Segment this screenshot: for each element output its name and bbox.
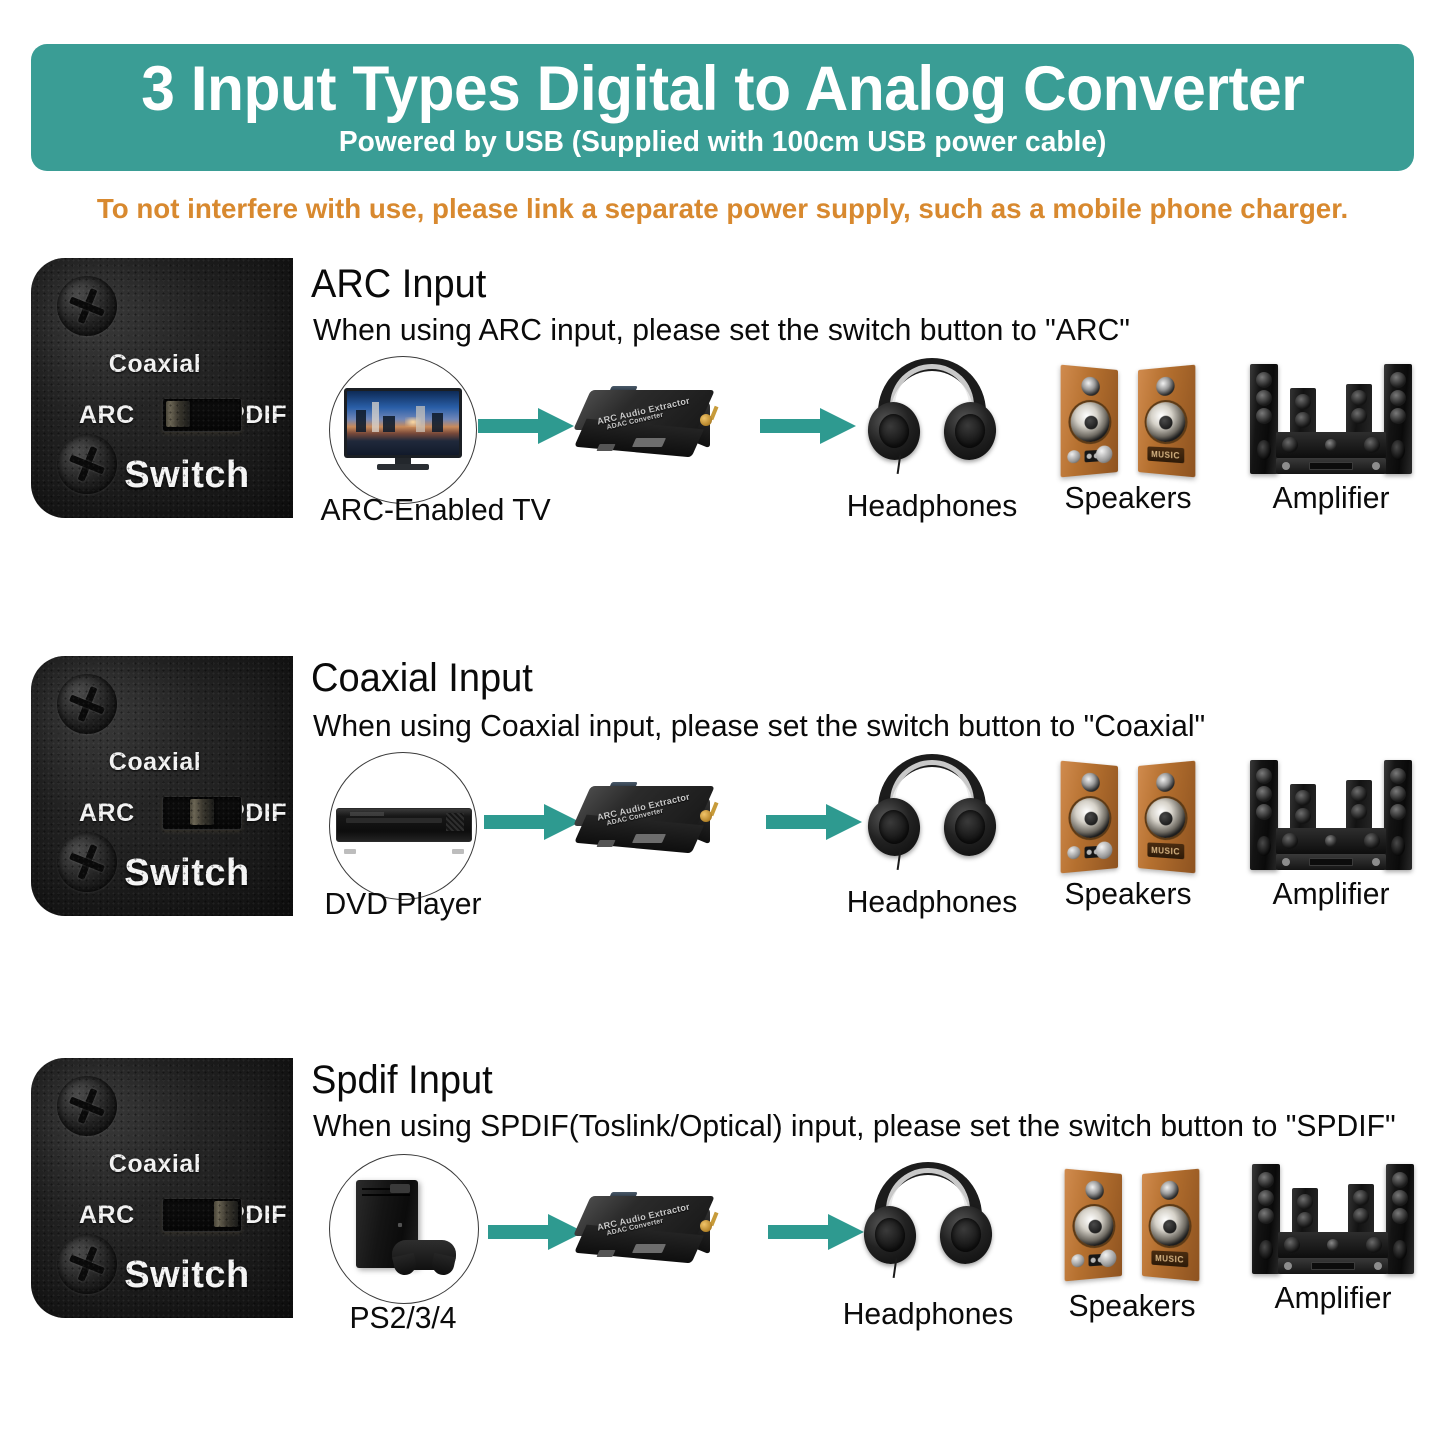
output-node-headphones: Headphones xyxy=(832,754,1032,920)
section-description: When using Coaxial input, please set the… xyxy=(313,708,1205,744)
output-label-amplifier: Amplifier xyxy=(1241,480,1421,516)
converter-node: ARC Audio Extractor ADAC Converter xyxy=(576,376,732,472)
amplifier-icon xyxy=(1246,760,1416,872)
header-banner: 3 Input Types Digital to Analog Converte… xyxy=(31,44,1414,171)
playstation-console-icon xyxy=(340,1180,460,1276)
headphones-icon xyxy=(866,1162,990,1272)
source-node-dvd: DVD Player xyxy=(318,752,488,922)
arrow-right-icon xyxy=(484,800,582,849)
speaker-badge: MUSIC xyxy=(1151,449,1180,460)
source-node-tv: ARC-Enabled TV xyxy=(318,356,488,528)
output-label-speakers: Speakers xyxy=(1045,876,1212,912)
section-spdif-input: Coaxial ARC SPDIF Switch Spdif Input Whe… xyxy=(0,1058,1445,1358)
source-node-console: PS2/3/4 xyxy=(318,1154,488,1336)
output-node-speakers: MUSIC Speakers xyxy=(1042,764,1214,912)
converter-device-icon: ARC Audio Extractor ADAC Converter xyxy=(576,772,726,868)
output-node-speakers: MUSIC Speakers xyxy=(1046,1172,1218,1324)
speaker-badge: MUSIC xyxy=(1151,845,1180,856)
screw-icon xyxy=(57,674,117,734)
dvd-player-icon xyxy=(336,802,472,856)
section-description: When using SPDIF(Toslink/Optical) input,… xyxy=(313,1108,1396,1144)
output-label-headphones: Headphones xyxy=(831,1296,1025,1332)
source-label: ARC-Enabled TV xyxy=(321,492,486,528)
signal-chain: ARC-Enabled TV ARC Audio Extractor ADAC … xyxy=(0,356,1445,548)
section-title: Coaxial Input xyxy=(311,656,533,701)
output-node-headphones: Headphones xyxy=(832,358,1032,524)
speakers-icon: MUSIC xyxy=(1058,764,1198,872)
converter-device-icon: ARC Audio Extractor ADAC Converter xyxy=(576,376,726,472)
section-arc-input: Coaxial ARC SPDIF Switch ARC Input When … xyxy=(0,258,1445,548)
screw-icon xyxy=(57,276,117,336)
output-label-amplifier: Amplifier xyxy=(1241,876,1421,912)
output-label-headphones: Headphones xyxy=(835,488,1029,524)
page-subtitle: Powered by USB (Supplied with 100cm USB … xyxy=(339,125,1106,159)
output-node-speakers: MUSIC Speakers xyxy=(1042,368,1214,516)
output-label-speakers: Speakers xyxy=(1049,1288,1216,1324)
speakers-icon: MUSIC xyxy=(1058,368,1198,476)
page-title: 3 Input Types Digital to Analog Converte… xyxy=(141,57,1304,121)
headphones-icon xyxy=(870,754,994,864)
tv-icon xyxy=(344,388,462,472)
amplifier-icon xyxy=(1248,1164,1418,1276)
output-node-headphones: Headphones xyxy=(828,1162,1028,1332)
source-label: PS2/3/4 xyxy=(321,1300,486,1336)
source-label: DVD Player xyxy=(321,886,486,922)
speakers-icon: MUSIC xyxy=(1062,1172,1202,1280)
output-label-headphones: Headphones xyxy=(835,884,1029,920)
signal-chain: PS2/3/4 ARC Audio Extractor ADAC Convert… xyxy=(0,1154,1445,1354)
arrow-right-icon xyxy=(488,1210,586,1259)
output-label-speakers: Speakers xyxy=(1045,480,1212,516)
headphones-icon xyxy=(870,358,994,468)
output-node-amplifier: Amplifier xyxy=(1238,364,1424,516)
screw-icon xyxy=(57,1076,117,1136)
section-title: ARC Input xyxy=(311,262,486,307)
amplifier-icon xyxy=(1246,364,1416,476)
output-label-amplifier: Amplifier xyxy=(1243,1280,1423,1316)
signal-chain: DVD Player ARC Audio Extractor ADAC Conv… xyxy=(0,752,1445,944)
converter-node: ARC Audio Extractor ADAC Converter xyxy=(576,772,732,868)
converter-device-icon: ARC Audio Extractor ADAC Converter xyxy=(576,1182,726,1278)
arrow-right-icon xyxy=(478,404,576,453)
converter-node: ARC Audio Extractor ADAC Converter xyxy=(576,1182,732,1278)
section-coaxial-input: Coaxial ARC SPDIF Switch Coaxial Input W… xyxy=(0,656,1445,946)
output-node-amplifier: Amplifier xyxy=(1240,1164,1426,1316)
speaker-badge: MUSIC xyxy=(1155,1253,1184,1264)
power-warning-text: To not interfere with use, please link a… xyxy=(7,193,1438,225)
section-description: When using ARC input, please set the swi… xyxy=(313,312,1130,348)
output-node-amplifier: Amplifier xyxy=(1238,760,1424,912)
section-title: Spdif Input xyxy=(311,1058,493,1103)
